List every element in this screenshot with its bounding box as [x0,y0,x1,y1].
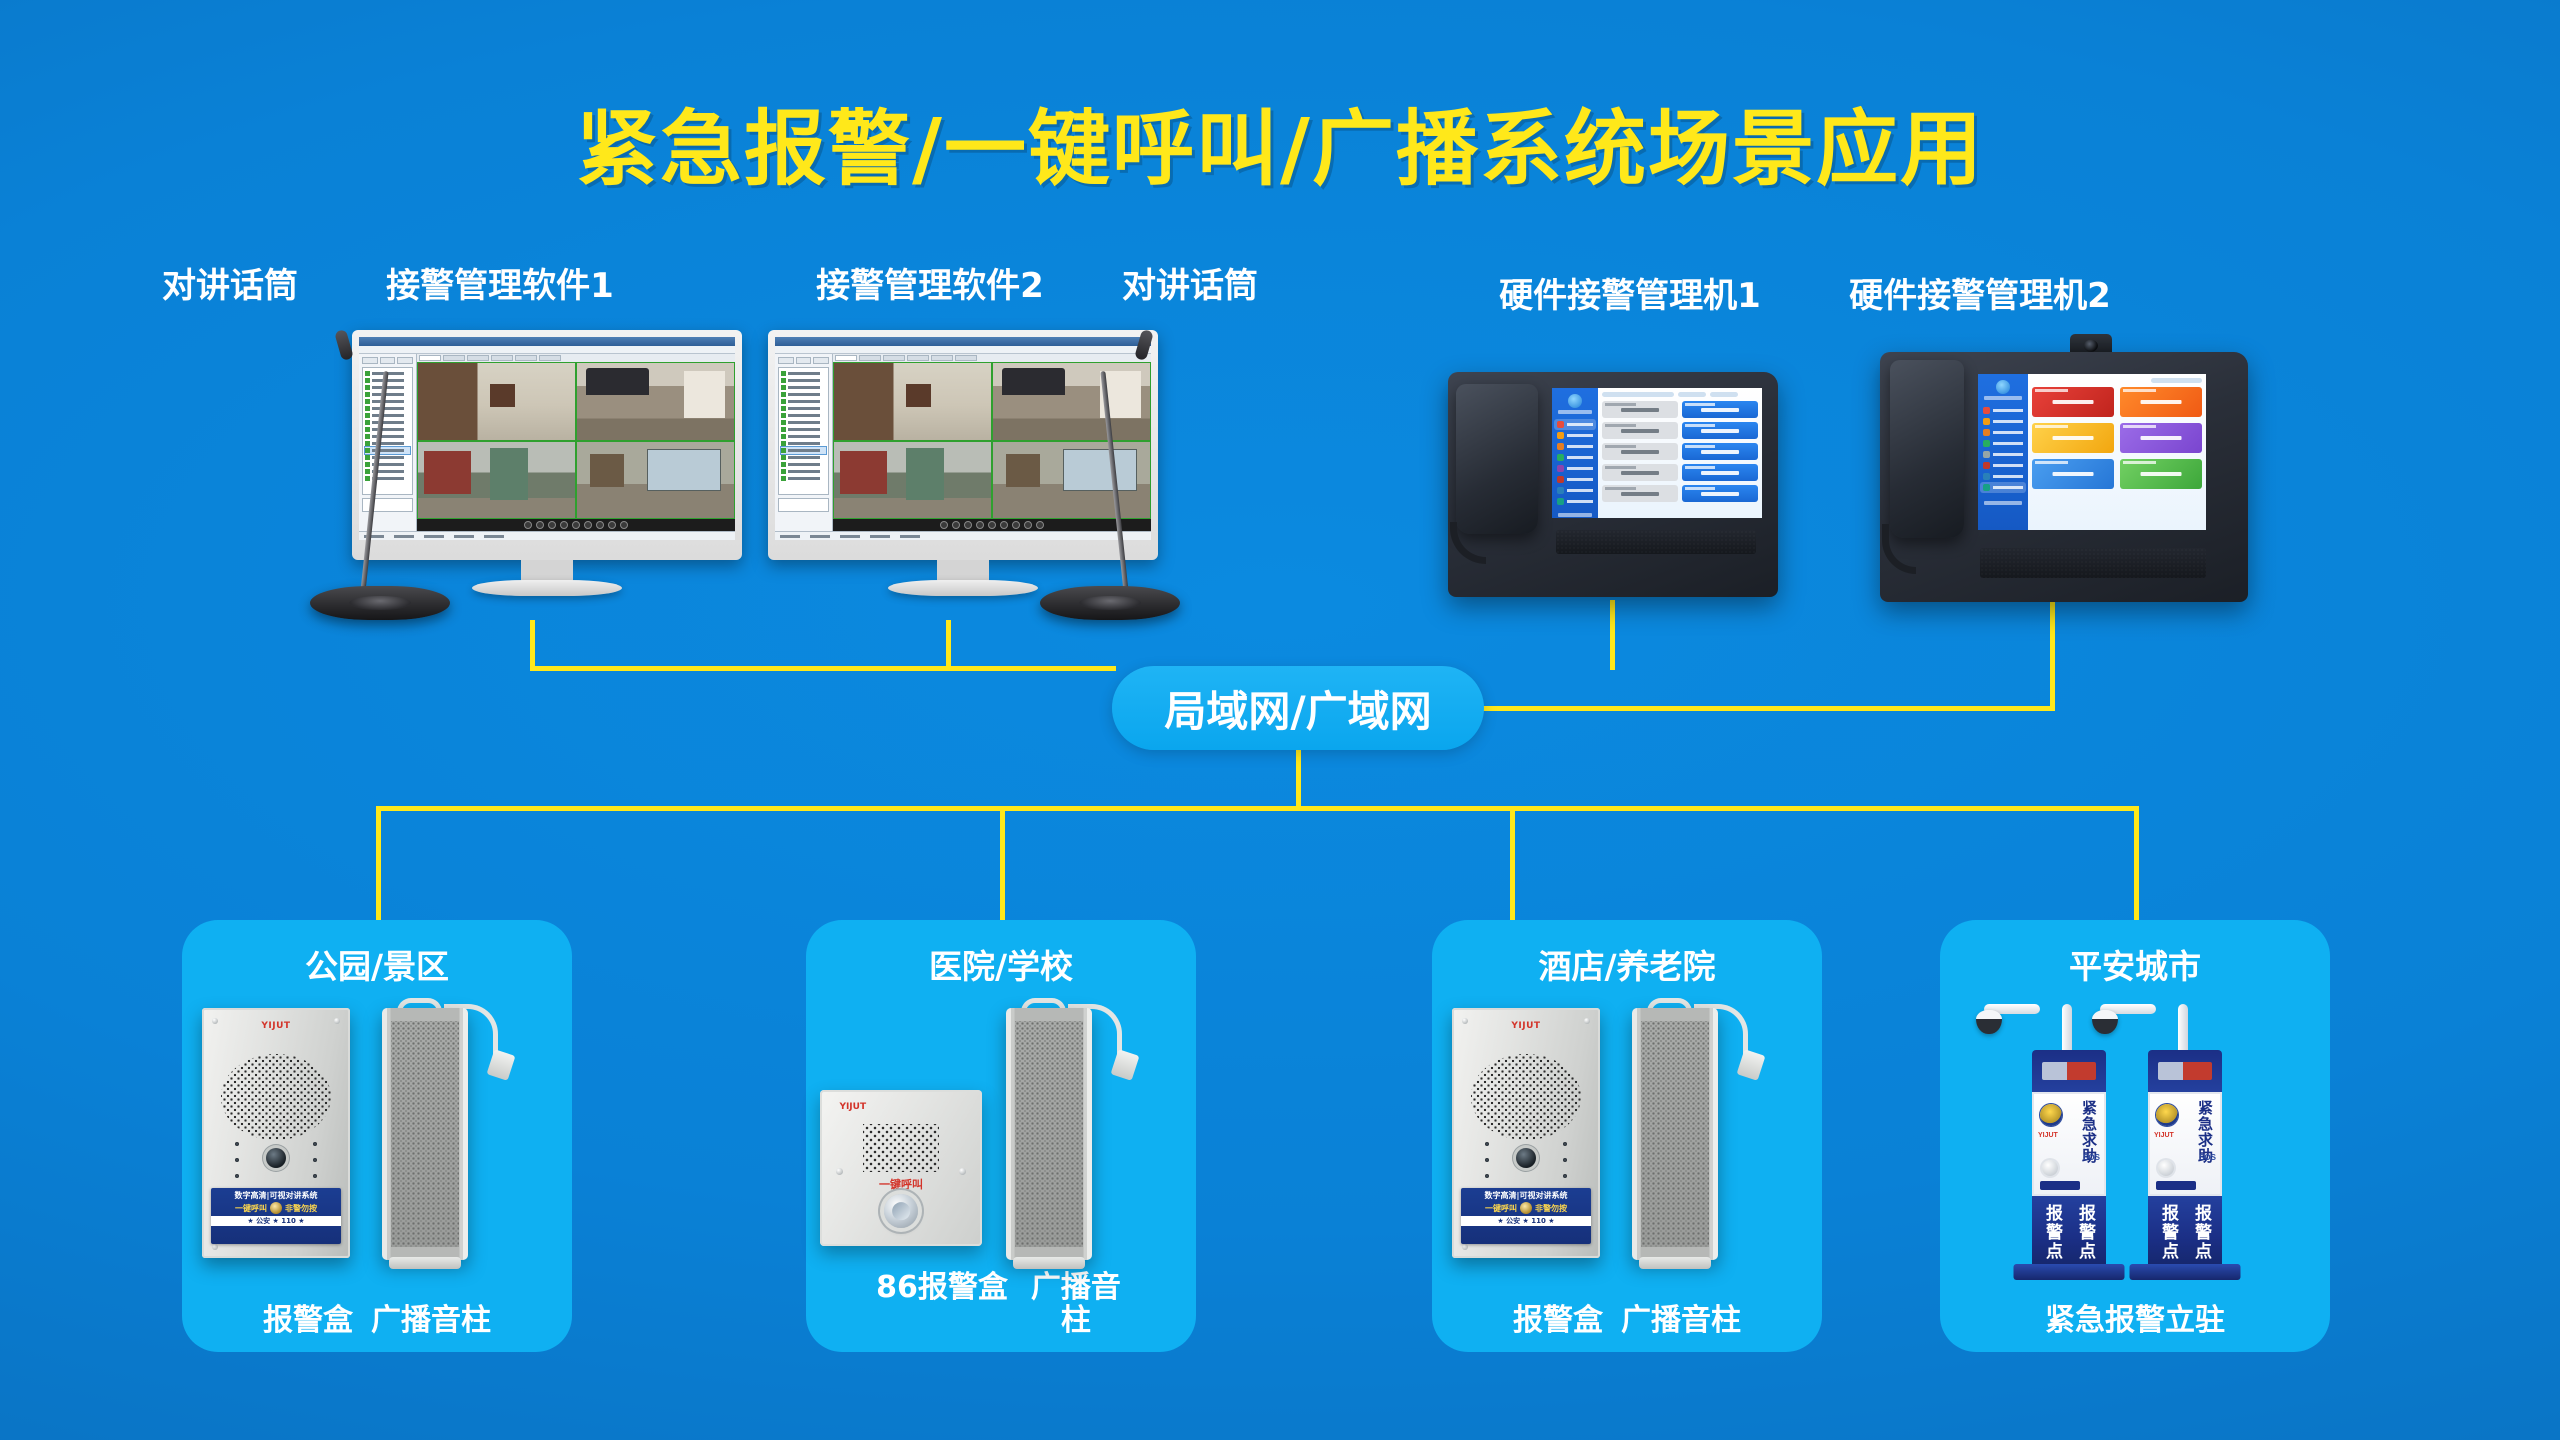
mic-base [310,586,450,620]
sidebar-item[interactable] [1554,452,1596,463]
pillar-info-strip [2156,1181,2196,1190]
phone-screen-1[interactable] [1552,388,1762,518]
pillar-side-text: 报警点 [2189,1204,2214,1272]
screw-icon [1462,1244,1468,1250]
pillar-info-strip [2040,1181,2080,1190]
sidebar-item[interactable] [1980,449,2026,460]
wire-phone1-down [1610,600,1615,670]
phone-topbar[interactable] [1602,392,1758,397]
pillar-base [2014,1264,2125,1280]
pillar-sos-text-en: SOS [2083,1153,2100,1162]
scene-card-hotel-nursing[interactable]: 酒店/养老院 YIJUT 数字高清|可视对讲系统 一键呼叫 非警勿按 ★ 公安 … [1432,920,1822,1352]
contact-tile[interactable] [1682,485,1758,502]
alarm-box-label-plate: 数字高清|可视对讲系统 一键呼叫 非警勿按 ★ 公安 ★ 110 ★ [211,1188,341,1244]
sw-device-tree[interactable] [778,367,829,495]
wire-left-bus [530,666,1116,671]
screw-icon [836,1168,843,1175]
police-emblem-icon [1520,1202,1532,1214]
phone-handset[interactable] [1890,360,1964,538]
ir-leds [1485,1174,1567,1178]
label-mic-right: 对讲话筒 [1080,258,1300,307]
pillar-blue-section: 报警点 报警点 [2032,1196,2106,1272]
brand-logo: YIJUT [2038,1132,2058,1139]
ir-leds [1485,1158,1567,1162]
phone-screen-main[interactable] [2028,374,2206,530]
plate-call-text: 一键呼叫 [235,1203,267,1214]
ir-leds [235,1142,317,1146]
ptz-camera-icon [1976,1010,2002,1034]
ir-leds [1485,1142,1567,1146]
pillar-head [2148,1050,2222,1092]
wire-scene-2 [1000,806,1005,924]
speaker-mesh-icon [221,1054,331,1140]
plate-warn-text: 非警勿按 [285,1203,317,1214]
contact-tile[interactable] [1602,464,1678,481]
tree-node[interactable] [781,398,826,405]
contact-tile[interactable] [1682,443,1758,460]
device-label: 报警盒 [1513,1304,1603,1338]
screw-icon [1584,1018,1590,1024]
sidebar-item[interactable] [1554,474,1596,485]
mic-base [1040,586,1180,620]
wire-scene-3 [1510,806,1515,924]
pillar-side-text: 报警点 [2040,1204,2065,1272]
phone-handset[interactable] [1456,384,1538,534]
monitor-stand-base [888,580,1038,596]
tree-node[interactable] [781,419,826,426]
contact-tile[interactable] [1602,422,1678,439]
tree-node[interactable] [781,475,826,482]
sidebar-item[interactable] [1554,463,1596,474]
device-label: 广播音柱 [1621,1304,1741,1338]
phone-speaker-grille [1556,530,1756,554]
label-hardware-2: 硬件接警管理机2 [1700,268,2260,317]
sw-sidebar[interactable] [775,354,833,531]
monitor-stand-base [472,580,622,596]
tree-node[interactable] [781,440,826,447]
tree-node[interactable] [781,433,826,440]
scene-card-safe-city[interactable]: 平安城市 紧急求助 SOS YIJUT 报警点 报警点 紧急求助 SOS [1940,920,2330,1352]
intercom-microphone-right [1040,330,1180,620]
plate-line-system: 数字高清|可视对讲系统 [1461,1190,1591,1201]
plate-line-call: 一键呼叫 非警勿按 [1461,1202,1591,1214]
wire-monitor2-down [946,620,951,670]
ir-leds [235,1174,317,1178]
contact-tile[interactable] [1682,422,1758,439]
sw-playback-controls[interactable] [417,519,735,531]
video-tile[interactable] [577,442,734,519]
preset-tile-red[interactable] [2032,387,2114,417]
wire-monitor1-down [530,620,535,670]
wire-phone2-down [2050,600,2055,708]
phone-screen-sidebar[interactable] [1978,374,2028,530]
contact-tile[interactable] [1682,464,1758,481]
phone-preset-grid[interactable] [2032,387,2202,489]
sidebar-item[interactable] [1554,441,1596,452]
speaker-foot [1639,1257,1711,1269]
tree-node[interactable] [781,384,826,391]
mic-neck [360,371,389,596]
brand-logo: YIJUT [839,1102,866,1112]
tree-node[interactable] [781,377,826,384]
pillar-white-section: 紧急求助 SOS YIJUT [2032,1092,2106,1196]
tree-node[interactable] [781,454,826,461]
phone-contact-grid[interactable] [1602,401,1758,502]
device-label: 紧急报警立驻 [2045,1304,2225,1338]
page-title: 紧急报警/一键呼叫/广播系统场景应用 [0,82,2560,201]
emergency-alarm-pillar: 紧急求助 SOS YIJUT 报警点 报警点 [2032,994,2106,1280]
speaker-body [1632,1008,1718,1260]
preset-tile-purple[interactable] [2120,423,2202,453]
pillar-base [2130,1264,2241,1280]
sw-toolbar[interactable] [778,357,829,364]
ir-leds [235,1158,317,1162]
sidebar-item[interactable] [1554,496,1596,507]
app-logo-icon [1996,380,2010,394]
police-emblem-icon [270,1202,282,1214]
ptz-camera-icon [2092,1010,2118,1034]
preset-tile-blue[interactable] [2032,459,2114,489]
device-label: 广播音柱 [371,1304,491,1338]
sidebar-item[interactable] [1980,416,2026,427]
phone-screen-2[interactable] [1978,374,2206,530]
video-tile[interactable] [577,363,734,440]
sidebar-item[interactable] [1980,438,2026,449]
contact-tile[interactable] [1682,401,1758,418]
wire-right-bus [1480,706,2055,711]
plate-line-call: 一键呼叫 非警勿按 [211,1202,341,1214]
speaker-mesh-icon [1471,1054,1581,1140]
screw-icon [212,1018,218,1024]
plate-warn-text: 非警勿按 [1535,1203,1567,1214]
label-software-2: 接警管理软件2 [740,258,1120,307]
wire-scene-4 [2134,806,2139,924]
sw-video-area [417,354,735,531]
preset-tile-green[interactable] [2120,459,2202,489]
app-logo-icon [1568,394,1582,408]
label-mic-left: 对讲话筒 [120,258,340,307]
app-name-text [1984,396,2022,400]
broadcast-speaker-column [382,1008,468,1260]
screw-icon [212,1244,218,1250]
scene-device-labels: 86报警盒 广播音柱 [806,1271,1196,1338]
speaker-foot [389,1257,461,1269]
video-tile[interactable] [834,442,991,519]
pillar-white-section: 紧急求助 SOS YIJUT [2148,1092,2222,1196]
preset-tile-orange[interactable] [2120,387,2202,417]
broadcast-speaker-column [1006,1008,1092,1260]
brand-logo: YIJUT [2154,1132,2174,1139]
device-label: 广播音柱 [1026,1271,1126,1338]
alarm-box-86-device: YIJUT 一键呼叫 [820,1090,982,1246]
plate-line-police: ★ 公安 ★ 110 ★ [1461,1216,1591,1226]
pillar-side-text: 报警点 [2156,1204,2181,1272]
screw-icon [959,1168,966,1175]
intercom-microphone-left [310,330,450,620]
scene-title: 酒店/养老院 [1432,940,1822,988]
alarm-box-device: YIJUT 数字高清|可视对讲系统 一键呼叫 非警勿按 ★ 公安 ★ 110 ★ [1452,1008,1600,1258]
app-name-text [1558,410,1592,414]
video-tile[interactable] [834,363,991,440]
wire-pill-down [1296,750,1301,808]
pillar-call-button[interactable] [2042,1160,2058,1176]
contact-tile[interactable] [1602,443,1678,460]
phone-speaker-grille [1980,548,2206,578]
broadcast-speaker-column [1632,1008,1718,1260]
plate-line-police: ★ 公安 ★ 110 ★ [211,1216,341,1226]
scene-title: 平安城市 [1940,940,2330,988]
emergency-alarm-pillar: 紧急求助 SOS YIJUT 报警点 报警点 [2148,994,2222,1280]
police-emblem-icon [2040,1104,2062,1126]
preset-tile-yellow[interactable] [2032,423,2114,453]
device-label: 报警盒 [263,1304,353,1338]
device-label: 86报警盒 [876,1271,1008,1305]
plate-call-text: 一键呼叫 [1485,1203,1517,1214]
tree-node-selected[interactable] [781,447,826,454]
police-emblem-icon [2156,1104,2178,1126]
sw-video-grid[interactable] [417,362,735,519]
brand-logo: YIJUT [1511,1021,1540,1031]
phone-screen-main[interactable] [1598,388,1762,518]
wire-scene-1 [376,806,381,924]
mic-neck [1100,371,1129,596]
scene-card-park[interactable]: 公园/景区 YIJUT 数字高清|可视对讲系统 一键呼叫 非警勿按 ★ 公安 ★… [182,920,572,1352]
hardware-alarm-manager-2 [1880,352,2248,602]
mic-head [334,329,354,361]
speaker-body [382,1008,468,1260]
network-node[interactable]: 局域网/广域网 [1112,666,1484,750]
speaker-body [1006,1008,1092,1260]
wire-scene-bus [376,806,2136,811]
sidebar-item[interactable] [1554,485,1596,496]
sidebar-item[interactable] [1980,427,2026,438]
one-key-call-text: 一键呼叫 [879,1176,923,1192]
pillar-head [2032,1050,2106,1092]
speaker-mesh-icon [863,1124,939,1172]
scene-device-labels: 紧急报警立驻 [1940,1304,2330,1338]
alarm-box-device: YIJUT 数字高清|可视对讲系统 一键呼叫 非警勿按 ★ 公安 ★ 110 ★ [202,1008,350,1258]
contact-tile[interactable] [1602,401,1678,418]
plate-line-system: 数字高清|可视对讲系统 [211,1190,341,1201]
sidebar-item[interactable] [1980,405,2026,416]
hardware-alarm-manager-1 [1448,372,1778,597]
pillar-sos-text-en: SOS [2199,1153,2216,1162]
tree-node[interactable] [781,370,826,377]
scene-device-labels: 报警盒 广播音柱 [1432,1304,1822,1338]
tree-node[interactable] [781,426,826,433]
brand-logo: YIJUT [261,1021,290,1031]
phone-screen-sidebar[interactable] [1552,388,1598,518]
sidebar-item[interactable] [1554,419,1596,430]
sidebar-item[interactable] [1980,482,2026,493]
pillar-call-button[interactable] [2158,1160,2174,1176]
mic-head [1134,329,1154,361]
sidebar-item[interactable] [1980,460,2026,471]
scene-card-hospital-school[interactable]: 医院/学校 YIJUT 一键呼叫 86报警盒 广播音柱 [806,920,1196,1352]
alarm-box-label-plate: 数字高清|可视对讲系统 一键呼叫 非警勿按 ★ 公安 ★ 110 ★ [1461,1188,1591,1244]
contact-tile[interactable] [1602,485,1678,502]
sw-tabs[interactable] [417,354,735,362]
sidebar-item[interactable] [1980,471,2026,482]
sidebar-item[interactable] [1554,430,1596,441]
scene-device-labels: 报警盒 广播音柱 [182,1304,572,1338]
tree-node[interactable] [781,405,826,412]
pillar-side-text: 报警点 [2073,1204,2098,1272]
tree-node[interactable] [781,461,826,468]
scene-title: 公园/景区 [182,940,572,988]
screw-icon [1462,1018,1468,1024]
screw-icon [334,1018,340,1024]
label-software-1: 接警管理软件1 [310,258,690,307]
tree-node[interactable] [781,412,826,419]
pillar-blue-section: 报警点 报警点 [2148,1196,2222,1272]
speaker-foot [1013,1257,1085,1269]
sw-alarm-record-panel[interactable] [778,498,829,512]
one-key-call-button[interactable] [884,1194,918,1228]
tree-node[interactable] [781,391,826,398]
tree-node[interactable] [781,468,826,475]
scene-title: 医院/学校 [806,940,1196,988]
phone-topbar[interactable] [2032,378,2202,383]
